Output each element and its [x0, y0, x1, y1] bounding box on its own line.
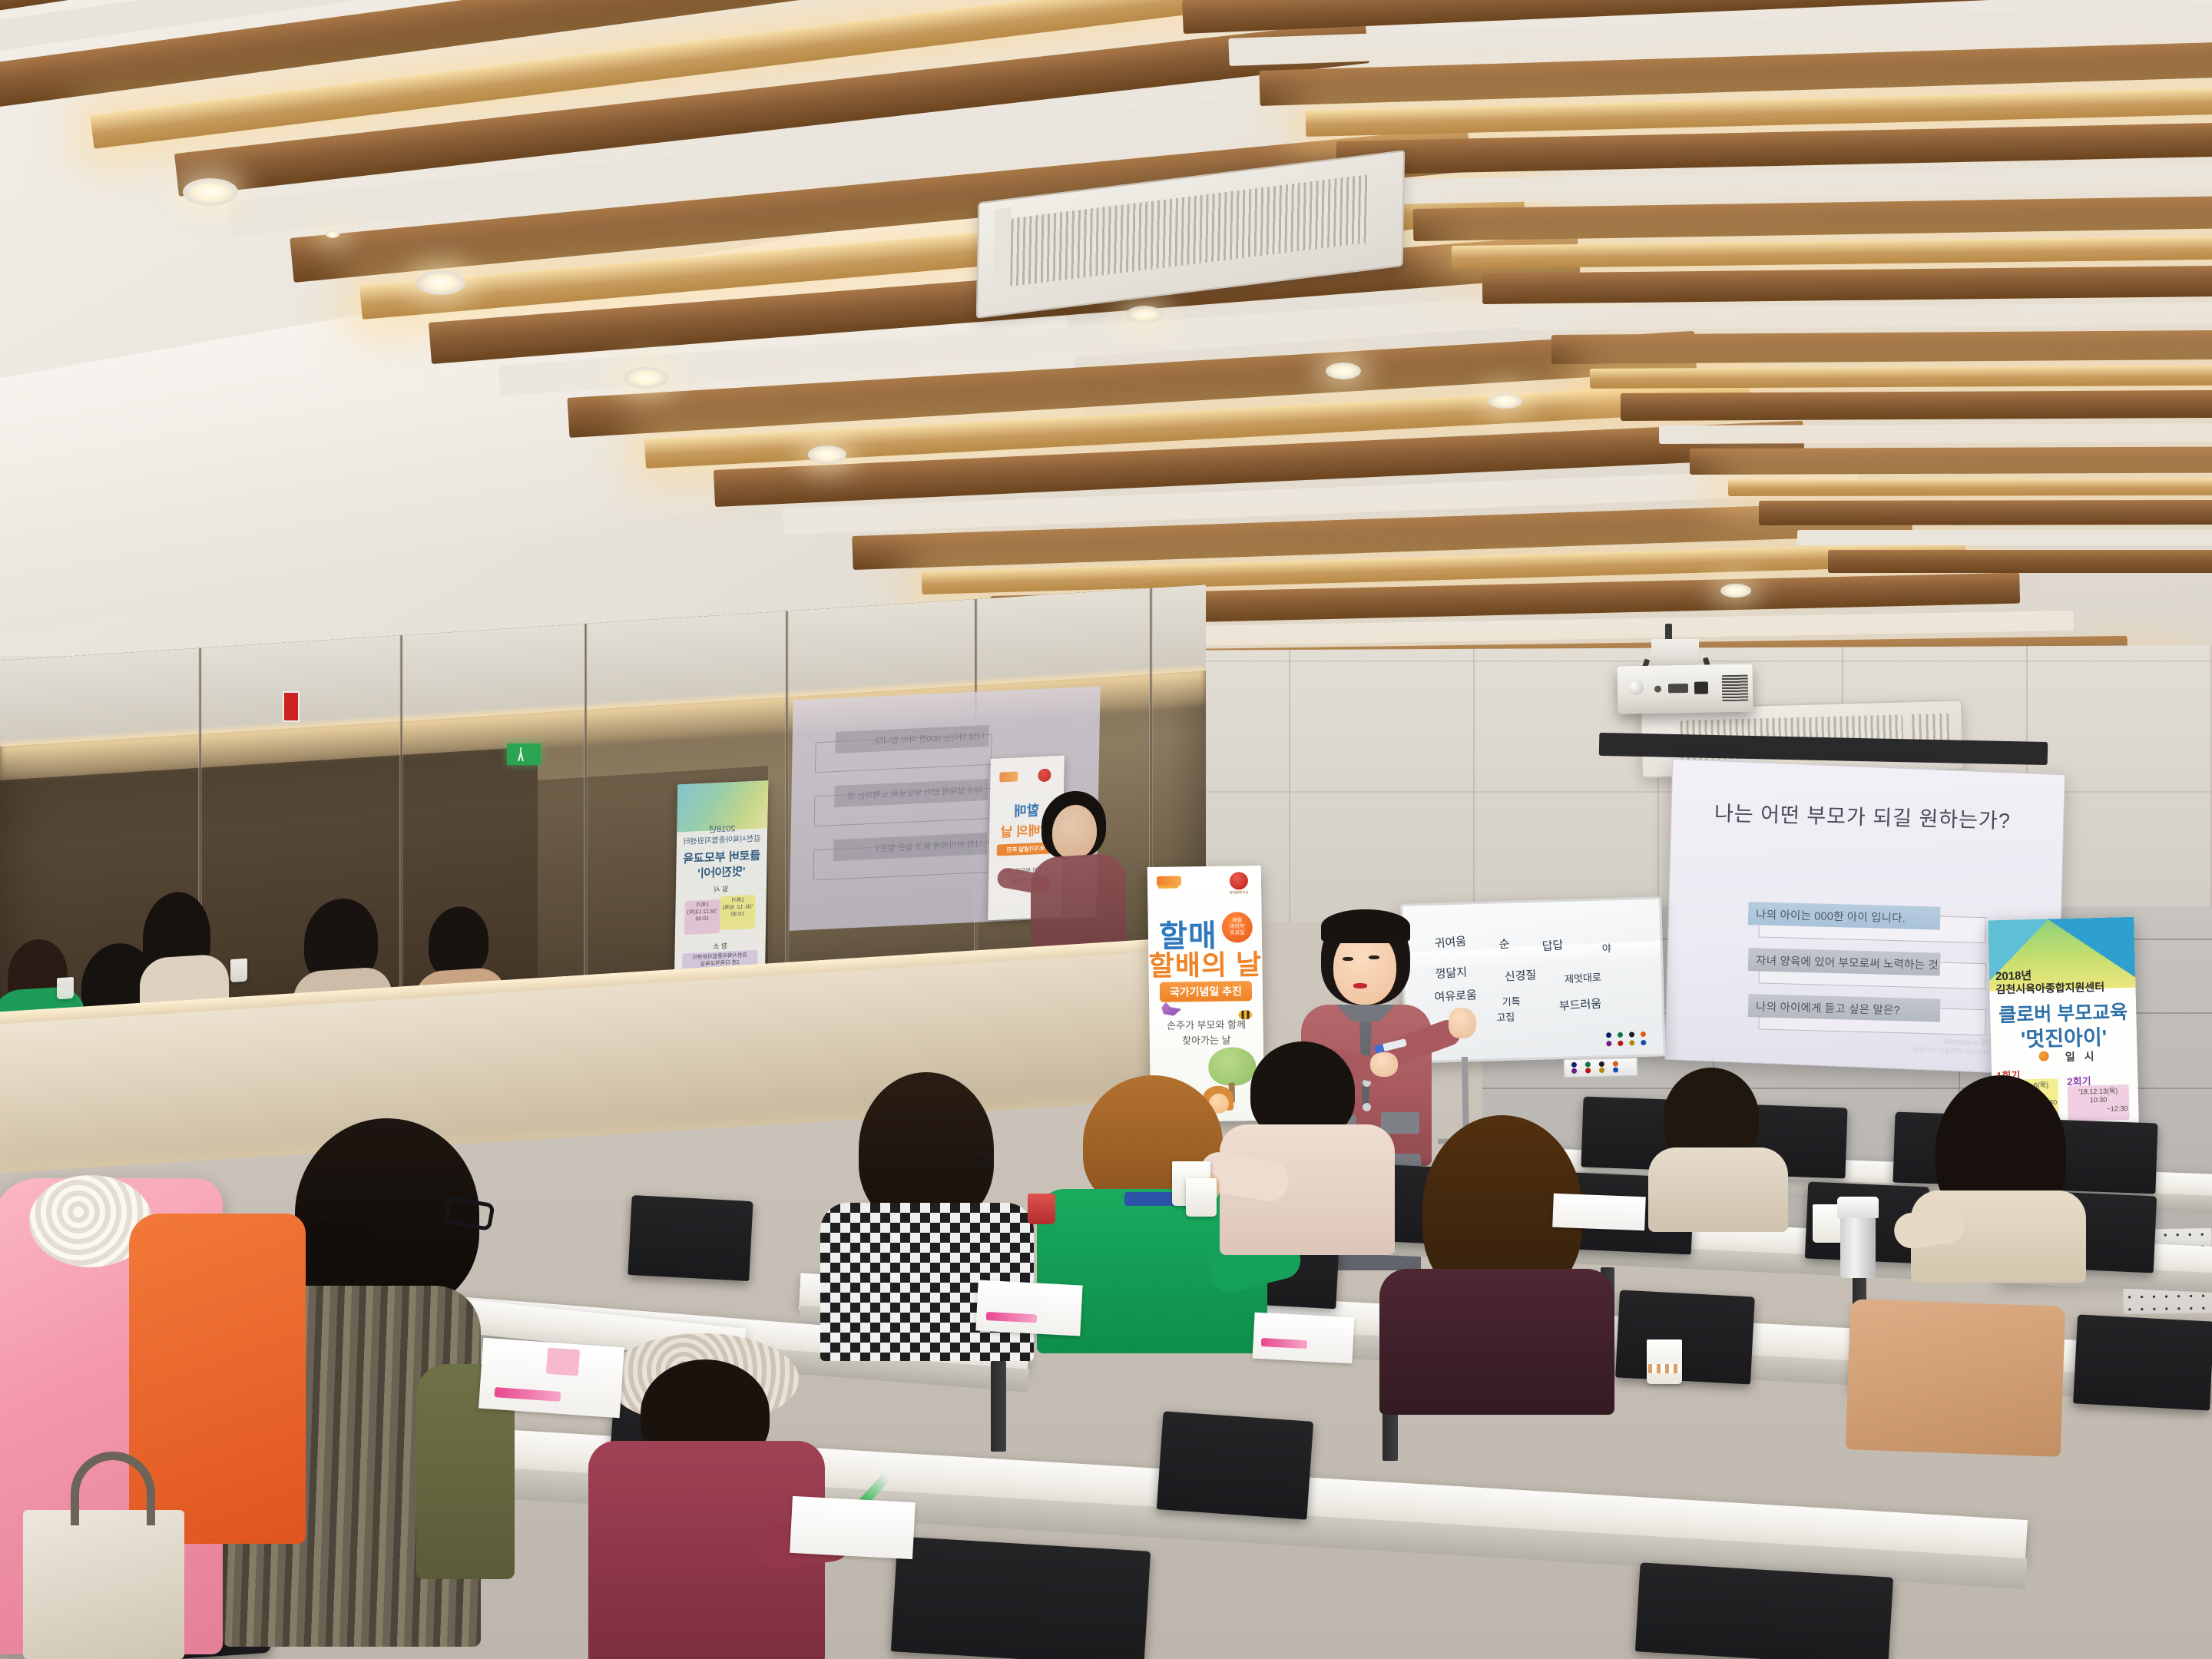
chair-row2-1[interactable]	[628, 1195, 753, 1281]
banner-right-organization: 김천시육아종합지원센터	[1995, 979, 2141, 998]
marker-dot	[1606, 1032, 1611, 1038]
marker-tray-dot	[1599, 1068, 1604, 1073]
wood-slat	[1690, 445, 2212, 475]
marker-dot	[1629, 1031, 1634, 1037]
marker-tray-dot	[1571, 1062, 1577, 1068]
presenter-hair-front	[1321, 909, 1410, 943]
badge-line-3: 토요일	[1230, 930, 1244, 936]
fox-icon	[1161, 1002, 1181, 1015]
badge-line-1: 매월	[1232, 918, 1242, 924]
marker-tray-dot	[1599, 1061, 1604, 1067]
marker-dot	[1618, 1032, 1623, 1038]
recessed-downlight	[808, 445, 846, 464]
marker-tray-dot	[1585, 1061, 1591, 1067]
wood-slat	[1482, 264, 2212, 304]
paper-cup-desk-1-band	[1648, 1364, 1681, 1373]
badge-line-2: 마지막	[1230, 924, 1244, 930]
presenter-eye-left	[1343, 957, 1353, 961]
marker-dot	[1618, 1041, 1623, 1046]
mirrored-banner-right: 2018년 김천시육아종합지원센터 클로버 부모교육 '멋진아이' 일 시 1회…	[674, 780, 769, 991]
slide-row-3: 나의 아이에게 듣고 싶은 말은?	[1748, 994, 1979, 1032]
chair-row2-6[interactable]	[2073, 1314, 2212, 1410]
recessed-downlight	[624, 367, 668, 389]
desk-leg-1	[991, 1361, 1006, 1452]
presenter-hand-right	[1449, 1008, 1476, 1038]
marker-tray-dot	[1585, 1068, 1591, 1073]
mirrored-cup-2	[230, 959, 247, 982]
slide-row-1: 나의 아이는 000한 아이 입니다.	[1748, 902, 1979, 940]
tote-bag	[23, 1510, 184, 1659]
chair-row2-4[interactable]	[1615, 1290, 1755, 1384]
wb-word-9: 기특	[1502, 993, 1520, 1008]
marker-dot	[1606, 1041, 1611, 1046]
banner-center-title-2: 할배의 날	[1148, 942, 1263, 984]
chair-row0-2[interactable]	[1635, 1562, 1893, 1659]
tan-coat-draped	[1846, 1299, 2066, 1457]
marker-dot	[1629, 1040, 1634, 1045]
ceiling-cove-light-strip	[1728, 478, 2212, 496]
mirrored-session-1: 1회기 '18. 12. 6(목) 10:30	[720, 895, 756, 930]
red-cup-foreground[interactable]	[1028, 1194, 1055, 1224]
worksheet-4[interactable]	[790, 1496, 916, 1559]
fire-alarm-box	[283, 691, 300, 722]
marker-dot-tray	[1606, 1031, 1656, 1050]
mirrored-cup-1	[57, 977, 74, 999]
halmae-logo-text: 할매할배의날	[1227, 890, 1250, 896]
mirrored-banner-datetime-label: 일 시	[676, 882, 767, 896]
wood-slat	[1828, 550, 2212, 573]
paper-cup-desk-2[interactable]	[1186, 1178, 1217, 1217]
audience-woman-cream-knit	[1636, 1068, 1797, 1206]
torso	[1379, 1269, 1614, 1415]
recessed-downlight	[1126, 306, 1163, 323]
worksheet-2[interactable]	[975, 1280, 1082, 1336]
recessed-downlight	[416, 270, 465, 295]
wb-word-11: 부드러움	[1558, 995, 1601, 1014]
marker-dot	[1641, 1031, 1646, 1037]
wb-word-6: 신경질	[1504, 966, 1537, 985]
banner-right-datetime-label: 일 시	[2008, 1047, 2142, 1066]
projector-mount-plate	[1651, 639, 1699, 667]
slide-row-2: 자녀 양육에 있어 부모로써 노력하는 것	[1748, 948, 1979, 986]
presenter-lips	[1353, 983, 1367, 988]
thermos-cap[interactable]	[1837, 1197, 1879, 1218]
wb-word-2: 순	[1498, 935, 1510, 952]
ceiling-gap	[1659, 422, 2212, 444]
exit-sign	[507, 743, 541, 765]
marker-tray-dots	[1571, 1061, 1631, 1075]
presenter-eye-right	[1369, 955, 1379, 959]
silver-thermos[interactable]	[1840, 1215, 1876, 1278]
recessed-downlight	[1326, 363, 1361, 379]
torso	[1648, 1147, 1788, 1232]
worksheet-5[interactable]	[1552, 1194, 1646, 1231]
wb-word-7: 제멋대로	[1564, 969, 1601, 986]
audience-woman-maroon-top	[1375, 1115, 1621, 1376]
marker-dot	[1641, 1040, 1646, 1045]
erida-logo	[1158, 885, 1178, 888]
recessed-downlight	[1720, 584, 1751, 598]
mirrored-banner-subtitle: '멋진아이'	[676, 862, 767, 882]
marker-tray-dot	[1571, 1068, 1577, 1074]
marker-tray-dot	[1613, 1067, 1618, 1072]
seminar-room-scene: 나는 어떤 부모가 되길 원하는가? 나의 아이는 000한 아이 입니다. 자…	[0, 0, 2212, 1659]
recessed-downlight	[326, 230, 339, 238]
recessed-downlight	[183, 178, 238, 206]
wood-slat	[1759, 499, 2212, 525]
wb-word-4: 야	[1602, 940, 1611, 955]
recessed-downlight	[1488, 393, 1522, 409]
ceiling-projector	[1617, 664, 1753, 714]
paper-cup-desk-1[interactable]	[1647, 1339, 1682, 1384]
audience-woman-pink-sweater	[1217, 1041, 1401, 1249]
orange-child-coat	[129, 1214, 306, 1544]
worksheet-1-mark	[546, 1348, 580, 1376]
banner-center-badge: 매월 마지막 토요일	[1222, 912, 1253, 943]
ceiling-gap	[1797, 530, 2212, 545]
marker-tray-dot	[1613, 1061, 1618, 1066]
mirrored-session-2: 2회기 '18.12.13(목) 10:30	[684, 899, 720, 935]
wb-word-10: 고집	[1496, 1009, 1515, 1025]
ceiling-cove-light-strip	[1590, 364, 2212, 389]
chair-row0-1[interactable]	[891, 1536, 1151, 1659]
chair-row1-2[interactable]	[1157, 1411, 1313, 1519]
audience-woman-beige-long-hair	[1914, 1075, 2098, 1252]
projector-vent	[1722, 675, 1749, 702]
wb-word-3: 답답	[1541, 936, 1564, 954]
wood-slat	[1621, 389, 2212, 421]
banner-center-pill: 국가기념일 추진	[1160, 981, 1252, 1002]
wood-slat	[1551, 329, 2212, 364]
